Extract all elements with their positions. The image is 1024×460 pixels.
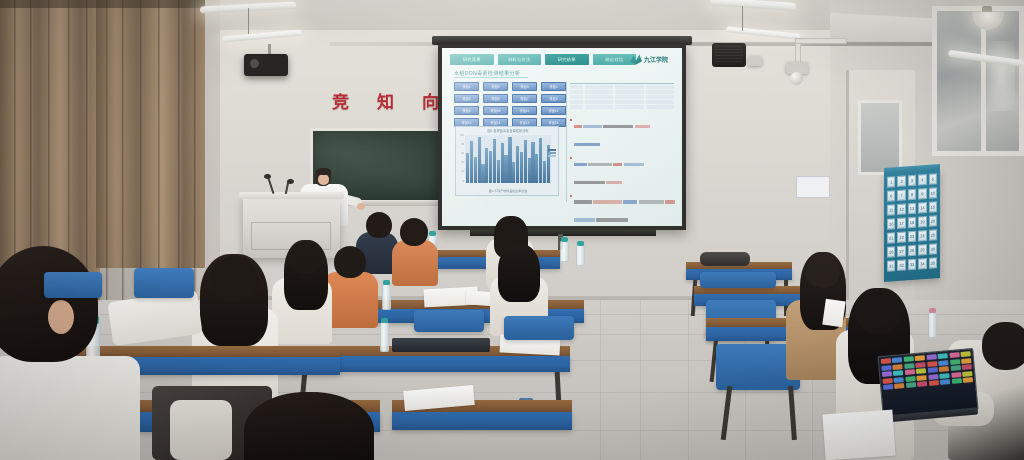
chart-caption: 图1 各样品毒素含量柱状分布 [456,128,560,133]
notebook-page [822,410,895,460]
table-cell [570,95,583,98]
table-cell [646,85,674,88]
desktop-icon [961,358,971,364]
desktop-icon [927,367,937,373]
rack-row: 1617181920 [887,215,937,229]
desktop-icon [893,370,903,376]
bottle-cap [429,231,436,236]
slide-tab-1: 材料与方法 [498,54,542,65]
sample-box: 样品9 [454,106,479,115]
student-hair [498,244,540,302]
desktop-icon [894,383,904,389]
chart-bar [501,143,504,183]
slide-tab-0: 研究背景 [450,54,494,65]
sample-box: 样品3 [512,82,537,91]
sample-box: 样品1 [454,82,479,91]
slide-title-underline [454,77,528,78]
bullet-text-segment [574,218,595,221]
table-cell [585,100,613,103]
desktop-icon [881,358,891,364]
student-laptop-screen[interactable] [877,348,978,418]
rack-pocket[interactable]: 2 [897,175,905,187]
table-row [570,105,674,110]
rack-pocket[interactable]: 20 [929,215,937,227]
slide-nav-tabs: 研究背景 材料与方法 研究结果 结论对比 [450,54,636,65]
rack-row: 3132333435 [887,257,937,271]
chart-y-tick: 80 [461,144,464,146]
table-rule [570,83,674,84]
student-head [400,218,428,246]
rack-pocket[interactable]: 33 [908,259,916,271]
chart-bar [489,151,492,183]
chart-bar [535,154,538,183]
rack-pocket[interactable]: 12 [897,203,905,215]
foreground-student-head-2 [244,392,374,460]
chart-bar [508,137,511,183]
chart-bar [524,140,527,183]
bullet-text-segment [635,125,650,128]
chart-bar [543,161,546,183]
chair[interactable] [44,272,102,298]
student-head [806,254,840,288]
microphone-head [264,174,271,179]
sample-box-grid: 样品1样品2样品3样品4样品5样品6样品7样品8样品9样品10样品11样品12样… [454,82,566,127]
bullet-marker-icon [570,157,572,159]
desktop-icon [951,378,961,384]
slide-bar-chart: 图1 各样品毒素含量柱状分布 100806040200 图2 不同产地样品检出率… [455,126,559,196]
chart-bar [466,153,469,183]
table-cell [585,95,613,98]
water-bottle [380,322,389,352]
desktop-icon [917,381,927,387]
rack-pocket[interactable]: 4 [918,174,926,186]
rack-pocket[interactable]: 29 [918,244,926,256]
bullet-marker-icon [570,195,572,197]
backpack [700,252,750,266]
desktop-icon [938,353,948,359]
rack-pocket[interactable]: 26 [887,246,895,258]
student-head [982,322,1024,370]
curtain-rod [0,0,205,8]
rack-pocket[interactable]: 8 [908,189,916,201]
chart-y-axis: 100806040200 [458,135,464,183]
rack-row: 678910 [887,187,937,201]
foreground-student-torso [0,356,140,460]
foreground-bag-strap [170,400,232,460]
slide-bullet [570,193,676,226]
presenter-hand [357,203,365,210]
podium-surface [239,192,344,199]
sample-box: 样品12 [541,106,566,115]
slide-divider [566,82,567,202]
logo-text: 九江学院 [644,55,668,64]
laptop-desktop-icons [881,351,976,415]
rack-pocket[interactable]: 21 [887,232,895,244]
desktop-icon [939,366,949,372]
bullet-text-segment [613,163,622,166]
chart-legend [548,149,556,159]
desktop-icon [915,362,925,368]
sample-box: 样品8 [541,94,566,103]
security-camera-dome [790,72,803,85]
rack-pocket[interactable]: 5 [929,173,937,185]
bullet-text-segment [574,143,600,146]
microphone-head [287,179,294,184]
table-header-row [570,82,576,87]
rack-row: 2627282930 [887,243,937,257]
desktop-icon [905,376,915,382]
bottle-cap [577,241,584,246]
desktop-icon [893,364,903,370]
desktop-icon [881,365,891,371]
desktop-icon [882,371,892,377]
rack-pocket[interactable]: 28 [908,245,916,257]
bullet-text-segment [623,200,637,203]
wall-speaker-left [712,43,746,67]
rack-pocket[interactable]: 3 [908,175,916,187]
water-bottle [382,284,391,310]
rack-row: 2122232425 [887,229,937,243]
rack-pocket[interactable]: 7 [897,189,905,201]
chart-bar [512,162,515,183]
wall-motto: 竞 知 向 [318,95,453,112]
desktop-icon [882,378,892,384]
bullet-marker-icon [570,119,572,121]
desktop-icon [929,380,939,386]
screen-surface: 研究背景 材料与方法 研究结果 结论对比 九江学院 水稻DON毒素检测结果分析 … [442,48,682,226]
classroom-scene: 1234567891011121314151617181920212223242… [0,0,1024,460]
desktop-icon [904,356,914,362]
door-glass-panel [858,100,902,175]
bottle-cap [383,280,390,285]
chair[interactable] [700,272,776,288]
desktop-icon [917,375,927,381]
rack-pocket[interactable]: 30 [929,243,937,255]
sample-box: 样品7 [512,94,537,103]
desktop-icon [940,379,950,385]
chart-plot-area [465,135,551,183]
rack-row: 1112131415 [887,201,937,215]
speaker-grill [715,46,743,64]
table-cell [570,100,583,103]
desktop-icon [905,369,915,375]
desktop-icon [894,377,904,383]
desktop-icon [926,354,936,360]
camera-bracket [748,56,762,66]
rack-pocket[interactable]: 14 [918,202,926,214]
bottle-cap [929,308,936,313]
university-logo: 九江学院 [630,52,676,66]
rack-row: 12345 [887,173,937,187]
rack-pocket[interactable]: 19 [918,216,926,228]
rack-pocket[interactable]: 34 [918,258,926,270]
ceiling-projector [244,54,288,76]
desktop-icon [939,373,949,379]
chart-bar [481,164,484,183]
rack-pocket[interactable]: 22 [897,231,905,243]
logo-mark-icon [630,54,642,65]
slide-bullet [570,156,676,192]
desktop-icon [963,377,973,383]
bullet-text-segment [596,218,628,221]
window-glare [987,41,1015,111]
bullet-text-segment [603,125,633,128]
chart-bar [504,155,507,183]
chart-bar [516,146,519,183]
chart-y-tick: 0 [463,181,464,183]
desktop-icon [962,371,972,377]
bullet-text-segment [624,163,644,166]
chart-bar [485,148,488,183]
chart-y-tick: 20 [461,171,464,173]
table-cell [585,85,613,88]
presentation-slide: 研究背景 材料与方法 研究结果 结论对比 九江学院 水稻DON毒素检测结果分析 … [442,48,682,226]
sample-box: 样品2 [483,82,508,91]
projector-lens [250,59,259,68]
table-cell [615,95,643,98]
chart-bar [520,152,523,183]
table-cell [646,95,674,98]
desktop-icon [962,364,972,370]
table-cell [646,100,674,103]
slide-tab-2: 研究结果 [545,54,589,65]
desktop-icon [938,360,948,366]
desktop-icon [950,365,960,371]
desktop-icon [883,384,893,390]
motto-char-1: 竞 [332,95,349,112]
table-cell [615,100,643,103]
desk [392,412,572,430]
motto-char-2: 知 [377,95,394,112]
chart-y-tick: 100 [460,135,464,137]
table-cell [615,105,643,108]
water-bottle [928,312,937,338]
rack-pocket[interactable]: 16 [887,218,895,230]
bullet-text-segment [639,200,664,203]
desktop-icon [916,368,926,374]
laptop-closed[interactable] [392,338,490,352]
rack-pocket[interactable]: 23 [908,231,916,243]
desktop-icon [960,351,970,357]
slide-bullet [570,118,676,154]
wall-notice [796,176,830,198]
chart-y-tick: 60 [461,153,464,155]
chart-bar [528,158,531,183]
student-head [290,242,322,274]
rack-pocket[interactable]: 35 [929,257,937,269]
rack-pocket[interactable]: 9 [918,188,926,200]
bullet-text-segment [606,181,622,184]
chart-bars [465,135,551,183]
rack-pocket[interactable]: 24 [918,230,926,242]
slide-data-table [570,82,674,112]
desktop-icon [951,372,961,378]
bullet-text-segment [588,163,612,166]
student-head [366,212,392,238]
chart-bar [474,157,477,183]
wall-conduit [795,38,847,44]
chart-bar [497,160,500,183]
bottle-cap [561,237,568,242]
chart-y-tick: 40 [461,162,464,164]
chart-bar [470,141,473,183]
student-head [856,290,902,334]
bullet-text-segment [574,181,605,184]
student-torso [392,240,438,286]
rack-pocket[interactable]: 11 [887,204,895,216]
desktop-icon [904,363,914,369]
presenter-hair [316,168,331,175]
bullet-text-segment [574,163,587,166]
water-bottle [576,244,585,266]
table-cell [585,90,613,93]
water-bottle [560,240,569,262]
desktop-icon [949,352,959,358]
curtain-panel-right[interactable] [96,0,205,268]
handheld-paper [822,299,845,328]
rack-pocket[interactable]: 32 [897,259,905,271]
sample-box: 样品6 [483,94,508,103]
chair[interactable] [134,268,194,298]
slide-title: 水稻DON毒素检测结果分析 [454,70,520,77]
foreground-student-ear [48,300,74,334]
bullet-text-segment [574,200,592,203]
chair[interactable] [414,310,484,332]
slide-bullet-list [570,118,676,226]
sample-box: 样品11 [512,106,537,115]
table-cell [570,105,583,108]
desktop-icon [928,374,938,380]
desktop-icon [906,382,916,388]
table-cell [585,105,613,108]
bullet-text [574,118,676,154]
desktop-icon [950,359,960,365]
chart-bar [539,138,542,183]
rack-pocket[interactable]: 17 [897,217,905,229]
rack-pocket[interactable]: 27 [897,245,905,257]
table-cell [646,90,674,93]
wall-phone-rack[interactable]: 1234567891011121314151617181920212223242… [884,170,940,282]
window-mullion-right [981,11,986,151]
table-cell [615,90,643,93]
bullet-text-segment [574,125,582,128]
rack-pocket[interactable]: 10 [929,187,937,199]
rack-pocket[interactable]: 25 [929,229,937,241]
motto-char-3: 向 [422,95,439,112]
bullet-text-segment [583,125,602,128]
sample-box: 样品4 [541,82,566,91]
right-window[interactable] [932,6,1024,156]
light-stem [248,8,249,34]
student-head [210,256,258,302]
bullet-text [574,193,676,226]
chair[interactable] [504,316,574,340]
presenter-face [318,174,329,185]
chart-footer: 图2 不同产地样品检出率比较 [456,189,560,193]
rack-pocket[interactable]: 1 [887,176,895,188]
chart-bar [478,137,481,183]
table-cell [570,90,583,93]
rack-pocket[interactable]: 18 [908,217,916,229]
table-cell [646,105,674,108]
bottle-cap [381,318,388,323]
table-cell [615,85,643,88]
rack-pocket[interactable]: 6 [887,190,895,202]
chart-bar [531,142,534,183]
rack-pocket[interactable]: 15 [929,201,937,213]
sample-box: 样品10 [483,106,508,115]
desktop-icon [892,357,902,363]
projection-screen: 研究背景 材料与方法 研究结果 结论对比 九江学院 水稻DON毒素检测结果分析 … [438,44,686,230]
desktop-icon [915,355,925,361]
desktop-icon [927,361,937,367]
rack-pocket[interactable]: 31 [887,260,895,272]
chart-bar [493,139,496,183]
light-stem [742,6,743,31]
rack-pocket[interactable]: 13 [908,203,916,215]
sample-box: 样品5 [454,94,479,103]
bullet-text [574,156,676,192]
bullet-text-segment [593,200,622,203]
student-head [334,246,366,278]
bullet-text-segment [665,200,675,203]
